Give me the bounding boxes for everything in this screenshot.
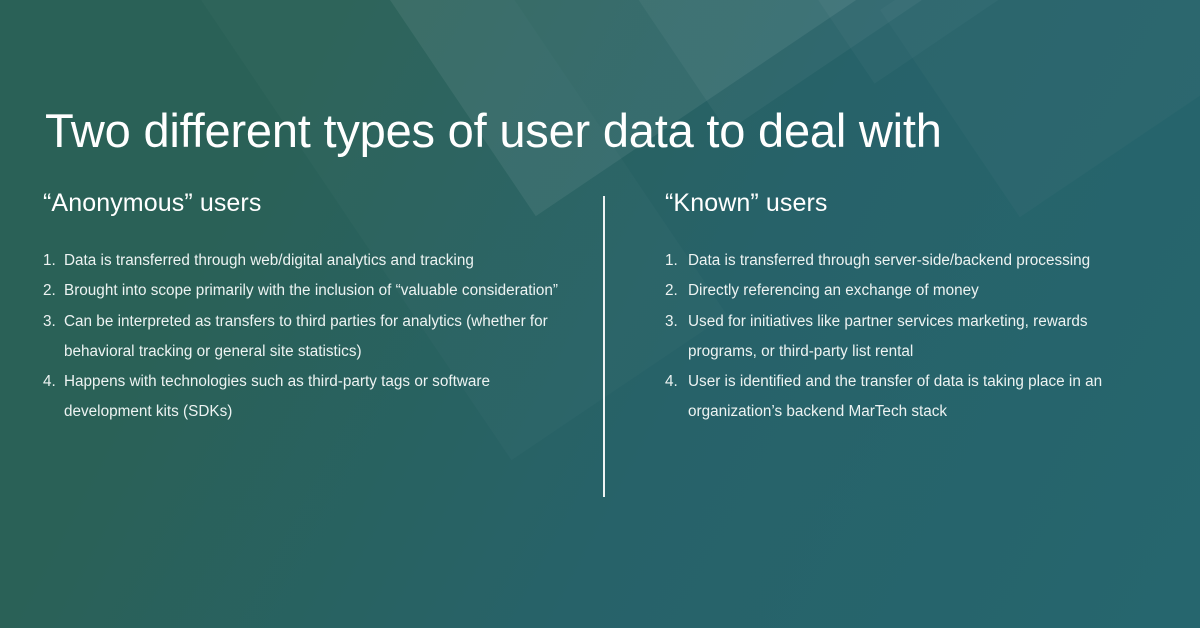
list-item: Data is transferred through web/digital … xyxy=(43,246,573,276)
anonymous-users-list: Data is transferred through web/digital … xyxy=(43,246,573,428)
list-item: Directly referencing an exchange of mone… xyxy=(665,276,1155,306)
column-known-users: “Known” users Data is transferred throug… xyxy=(665,188,1155,428)
list-item: Can be interpreted as transfers to third… xyxy=(43,307,573,368)
column-heading-anonymous: “Anonymous” users xyxy=(43,188,573,218)
slide-content: Two different types of user data to deal… xyxy=(0,0,1200,628)
column-divider-line xyxy=(603,196,605,497)
known-users-list: Data is transferred through server-side/… xyxy=(665,246,1155,428)
column-heading-known: “Known” users xyxy=(665,188,1155,218)
slide-title: Two different types of user data to deal… xyxy=(45,105,1135,158)
list-item: Used for initiatives like partner servic… xyxy=(665,307,1155,368)
list-item: Brought into scope primarily with the in… xyxy=(43,276,573,306)
column-anonymous-users: “Anonymous” users Data is transferred th… xyxy=(43,188,573,428)
slide-canvas: Two different types of user data to deal… xyxy=(0,0,1200,628)
list-item: Data is transferred through server-side/… xyxy=(665,246,1155,276)
list-item: Happens with technologies such as third-… xyxy=(43,367,573,428)
list-item: User is identified and the transfer of d… xyxy=(665,367,1155,428)
